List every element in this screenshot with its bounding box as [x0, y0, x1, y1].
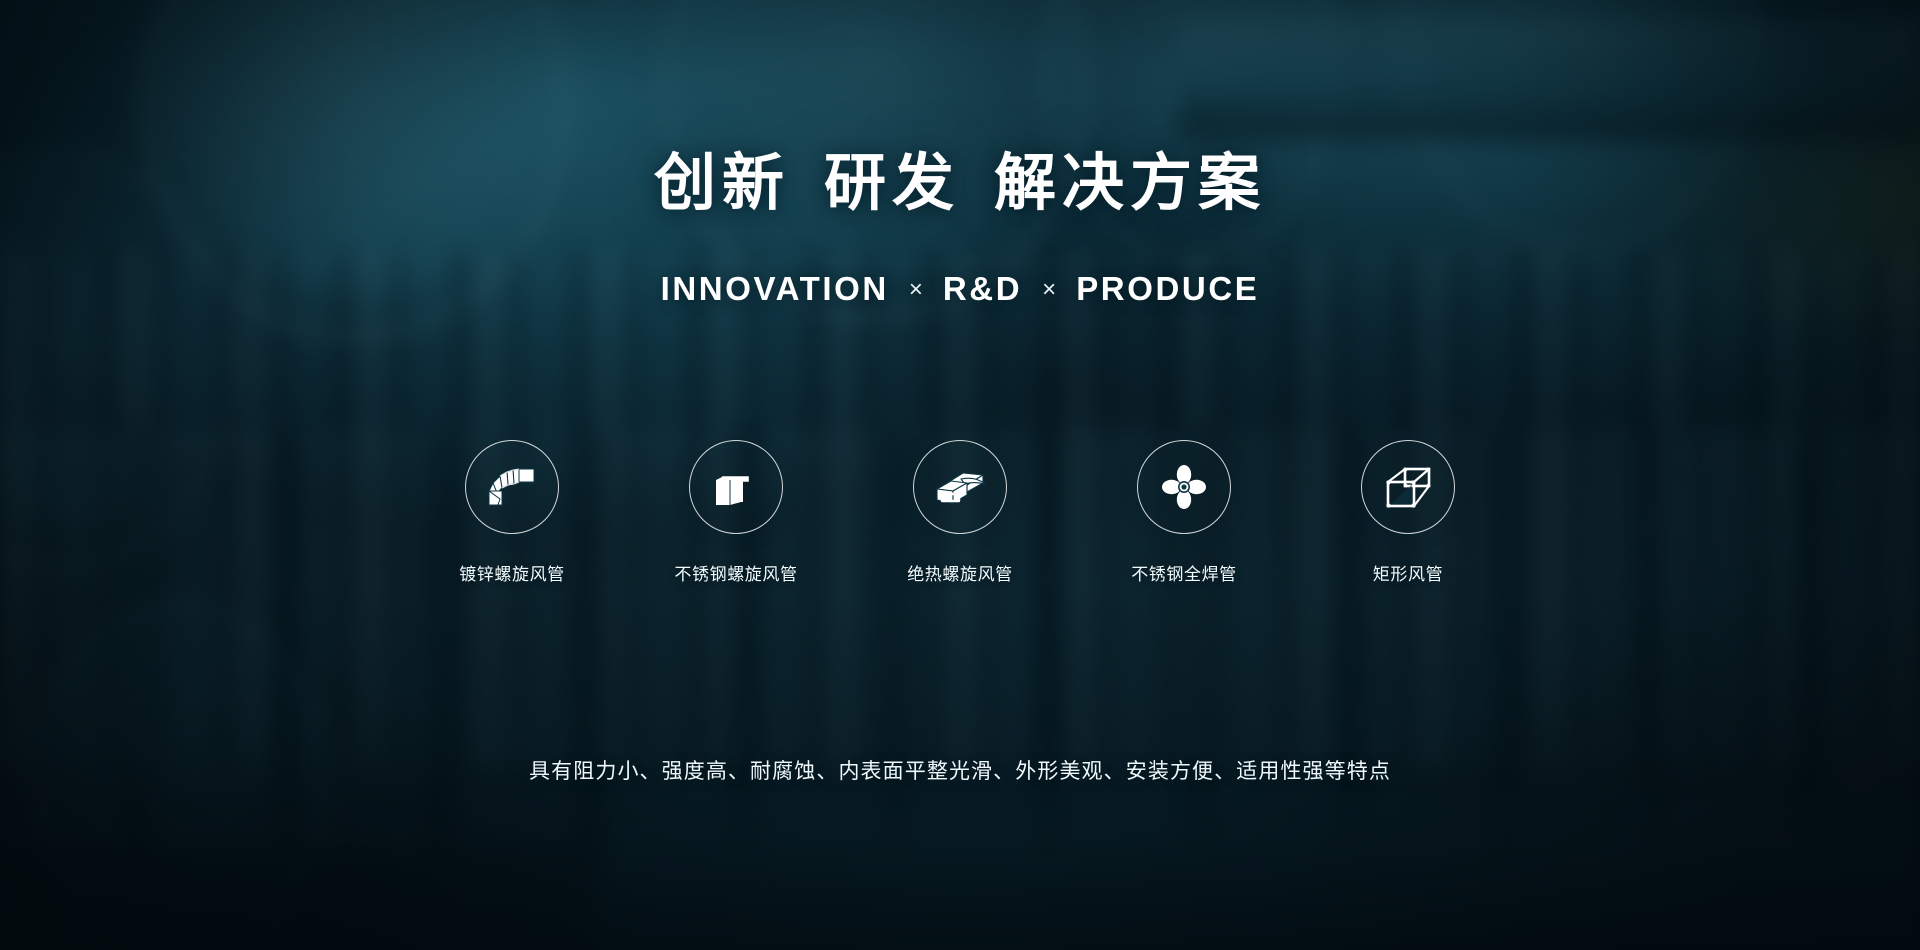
subtitle-separator-2: × — [1042, 276, 1056, 304]
product-label-4: 不锈钢全焊管 — [1131, 560, 1237, 585]
product-item-insulated-spiral-duct[interactable]: 绝热螺旋风管 — [869, 440, 1051, 585]
hero-title-part-1: 创新 — [654, 149, 790, 218]
hero-caption: 具有阻力小、强度高、耐腐蚀、内表面平整光滑、外形美观、安装方便、适用性强等特点 — [0, 755, 1920, 785]
hero-subtitle: INNOVATION×R&D×PRODUCE — [0, 270, 1920, 308]
subtitle-rd: R&D — [943, 270, 1022, 307]
hero-title-part-3: 解决方案 — [994, 149, 1266, 218]
spiral-duct-elbow-icon — [484, 459, 540, 515]
hero-content: 创新研发解决方案 INNOVATION×R&D×PRODUCE — [0, 0, 1920, 950]
hero-title-part-2: 研发 — [824, 149, 960, 218]
product-icon-circle-4[interactable] — [1137, 440, 1231, 534]
hero-banner: 创新研发解决方案 INNOVATION×R&D×PRODUCE — [0, 0, 1920, 950]
product-icon-circle-5[interactable] — [1361, 440, 1455, 534]
subtitle-innovation: INNOVATION — [661, 270, 889, 307]
product-icon-circle-2[interactable] — [689, 440, 783, 534]
fan-blade-icon — [1159, 462, 1209, 512]
product-item-galvanized-spiral-duct[interactable]: 镀锌螺旋风管 — [421, 440, 603, 585]
rectangular-duct-icon — [1381, 462, 1435, 512]
product-item-stainless-welded-pipe[interactable]: 不锈钢全焊管 — [1093, 440, 1275, 585]
product-label-3: 绝热螺旋风管 — [907, 560, 1013, 585]
stainless-spiral-duct-icon — [710, 461, 762, 513]
product-icon-circle-1[interactable] — [465, 440, 559, 534]
product-label-1: 镀锌螺旋风管 — [459, 560, 565, 585]
product-label-5: 矩形风管 — [1373, 560, 1443, 585]
product-item-stainless-spiral-duct[interactable]: 不锈钢螺旋风管 — [645, 440, 827, 585]
product-item-rectangular-duct[interactable]: 矩形风管 — [1317, 440, 1499, 585]
product-label-2: 不锈钢螺旋风管 — [674, 560, 797, 585]
product-icon-row: 镀锌螺旋风管 不锈钢螺旋风管 — [0, 440, 1920, 585]
hero-title: 创新研发解决方案 — [0, 132, 1920, 222]
subtitle-separator-1: × — [909, 276, 923, 304]
subtitle-produce: PRODUCE — [1076, 270, 1259, 307]
product-icon-circle-3[interactable] — [913, 440, 1007, 534]
insulated-duct-icon — [931, 461, 989, 513]
